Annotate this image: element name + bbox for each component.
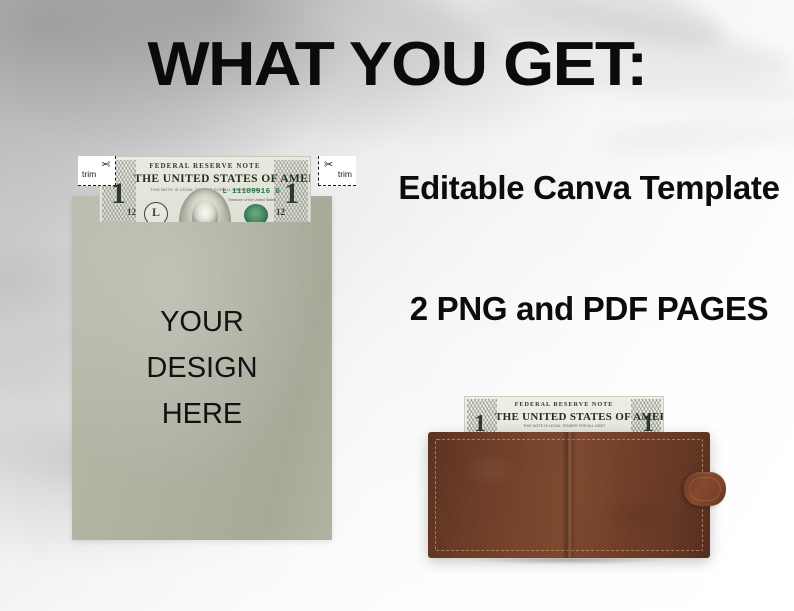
design-placeholder-line-1: YOUR: [72, 300, 332, 346]
promo-canvas: WHAT YOU GET: YOUR DESIGN HERE 1 1 FEDER…: [0, 0, 794, 611]
scissors-icon: ✂: [324, 160, 333, 171]
bill-country-text: THE UNITED STATES OF AMERICA: [134, 173, 276, 185]
bill-serial-number: L 11180916 G: [222, 188, 280, 196]
feature-text-line-2: 2 PNG and PDF PAGES: [396, 289, 782, 329]
bill-district-number-right: 12: [276, 207, 285, 217]
wallet-closure-tab: [684, 472, 726, 506]
dollar-bill-face: 1 1 FEDERAL RESERVE NOTE THE UNITED STAT…: [99, 156, 311, 222]
design-placeholder-text: YOUR DESIGN HERE: [72, 300, 332, 437]
dollar-bill-mockup: 1 1 FEDERAL RESERVE NOTE THE UNITED STAT…: [99, 156, 311, 222]
bill-legal-tender-text: THIS NOTE IS LEGAL TENDER FOR ALL DEBTS: [523, 424, 605, 428]
leather-grain-texture: [428, 432, 710, 558]
page-title: WHAT YOU GET:: [0, 34, 794, 96]
bill-country-text: THE UNITED STATES OF AMERICA: [495, 411, 633, 423]
bill-treasury-seal: [244, 204, 268, 222]
design-placeholder-line-2: DESIGN: [72, 346, 332, 392]
trim-mark-right: ✂ trim: [318, 156, 356, 186]
trim-mark-left-label: trim: [82, 170, 96, 179]
wallet-center-fold: [562, 432, 576, 558]
trim-mark-left: ✂ trim: [78, 156, 116, 186]
bill-district-number-left: 12: [127, 207, 136, 217]
bill-signature-line: Treasurer of the United States: [228, 198, 276, 202]
bill-district-seal: L: [144, 202, 168, 222]
feature-text-line-1: Editable Canva Template: [396, 168, 782, 208]
design-placeholder-line-3: HERE: [72, 392, 332, 438]
design-mockup: YOUR DESIGN HERE 1 1 FEDERAL RESERVE NOT…: [72, 196, 332, 540]
wallet-mockup: 1 1 FEDERAL RESERVE NOTE THE UNITED STAT…: [428, 396, 710, 561]
wallet-stitching: [435, 439, 703, 551]
leather-wallet: [428, 432, 710, 558]
bill-federal-reserve-text: FEDERAL RESERVE NOTE: [138, 162, 272, 171]
scissors-icon: ✂: [101, 160, 110, 171]
trim-mark-right-label: trim: [338, 170, 352, 179]
bill-federal-reserve-text: FEDERAL RESERVE NOTE: [499, 401, 629, 409]
